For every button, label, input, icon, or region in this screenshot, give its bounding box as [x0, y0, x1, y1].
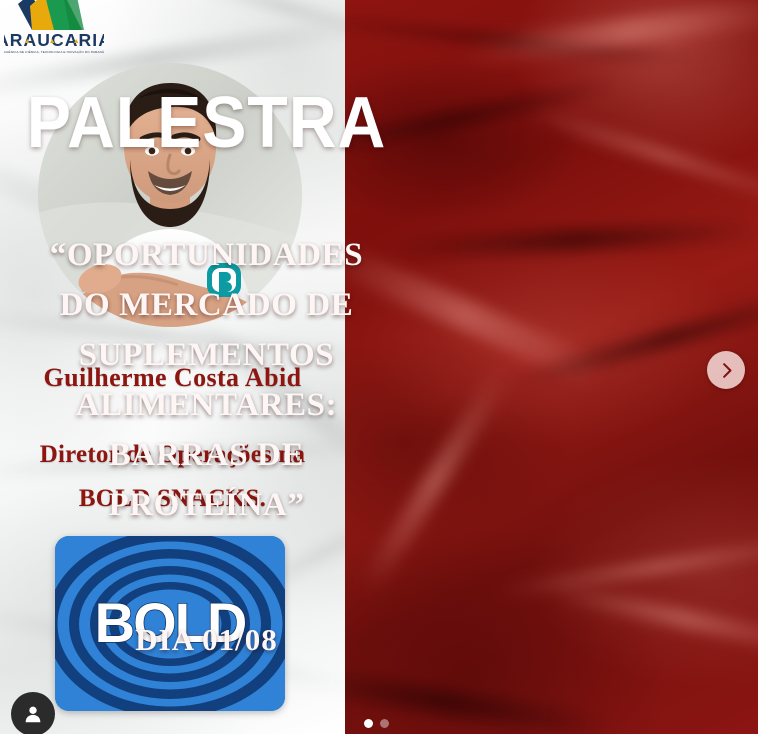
next-slide-button[interactable] [707, 351, 745, 389]
quote-line: DO MERCADO DE [18, 280, 395, 330]
carousel-dots [364, 719, 389, 728]
chevron-right-icon [717, 361, 736, 380]
profile-avatar-button[interactable] [11, 692, 55, 734]
araucaria-logo: ARAUCARIA AGÊNCIA DE CIÊNCIA, TECNOLOGIA… [4, 0, 104, 56]
satin-streak [465, 0, 758, 67]
satin-streak [385, 220, 758, 260]
quote-line: “OPORTUNIDADES [18, 230, 395, 280]
carousel-dot-1[interactable] [364, 719, 373, 728]
svg-text:ARAUCARIA: ARAUCARIA [4, 30, 104, 50]
quote-line: ALIMENTARES: [18, 380, 395, 430]
carousel-dot-2[interactable] [380, 719, 389, 728]
silk-fold [154, 0, 345, 59]
quote-line: PROTEÍNA” [18, 480, 395, 530]
araucaria-logo-tagline: AGÊNCIA DE CIÊNCIA, TECNOLOGIA E INOVAÇÃ… [4, 49, 104, 54]
story-viewer: ARAUCARIA AGÊNCIA DE CIÊNCIA, TECNOLOGIA… [0, 0, 758, 734]
quote-line: SUPLEMENTOS [18, 330, 395, 380]
slide-headline: PALESTRA [17, 80, 397, 166]
slide-quote: “OPORTUNIDADES DO MERCADO DE SUPLEMENTOS… [18, 230, 395, 530]
satin-streak [546, 581, 758, 657]
person-icon [22, 703, 44, 725]
satin-streak [520, 104, 758, 208]
quote-line: BARRAS DE [18, 430, 395, 480]
satin-streak [496, 534, 758, 598]
satin-streak [345, 14, 714, 67]
araucaria-logo-icon: ARAUCARIA AGÊNCIA DE CIÊNCIA, TECNOLOGIA… [4, 0, 104, 56]
event-date: DIA 01/08 [0, 622, 413, 658]
